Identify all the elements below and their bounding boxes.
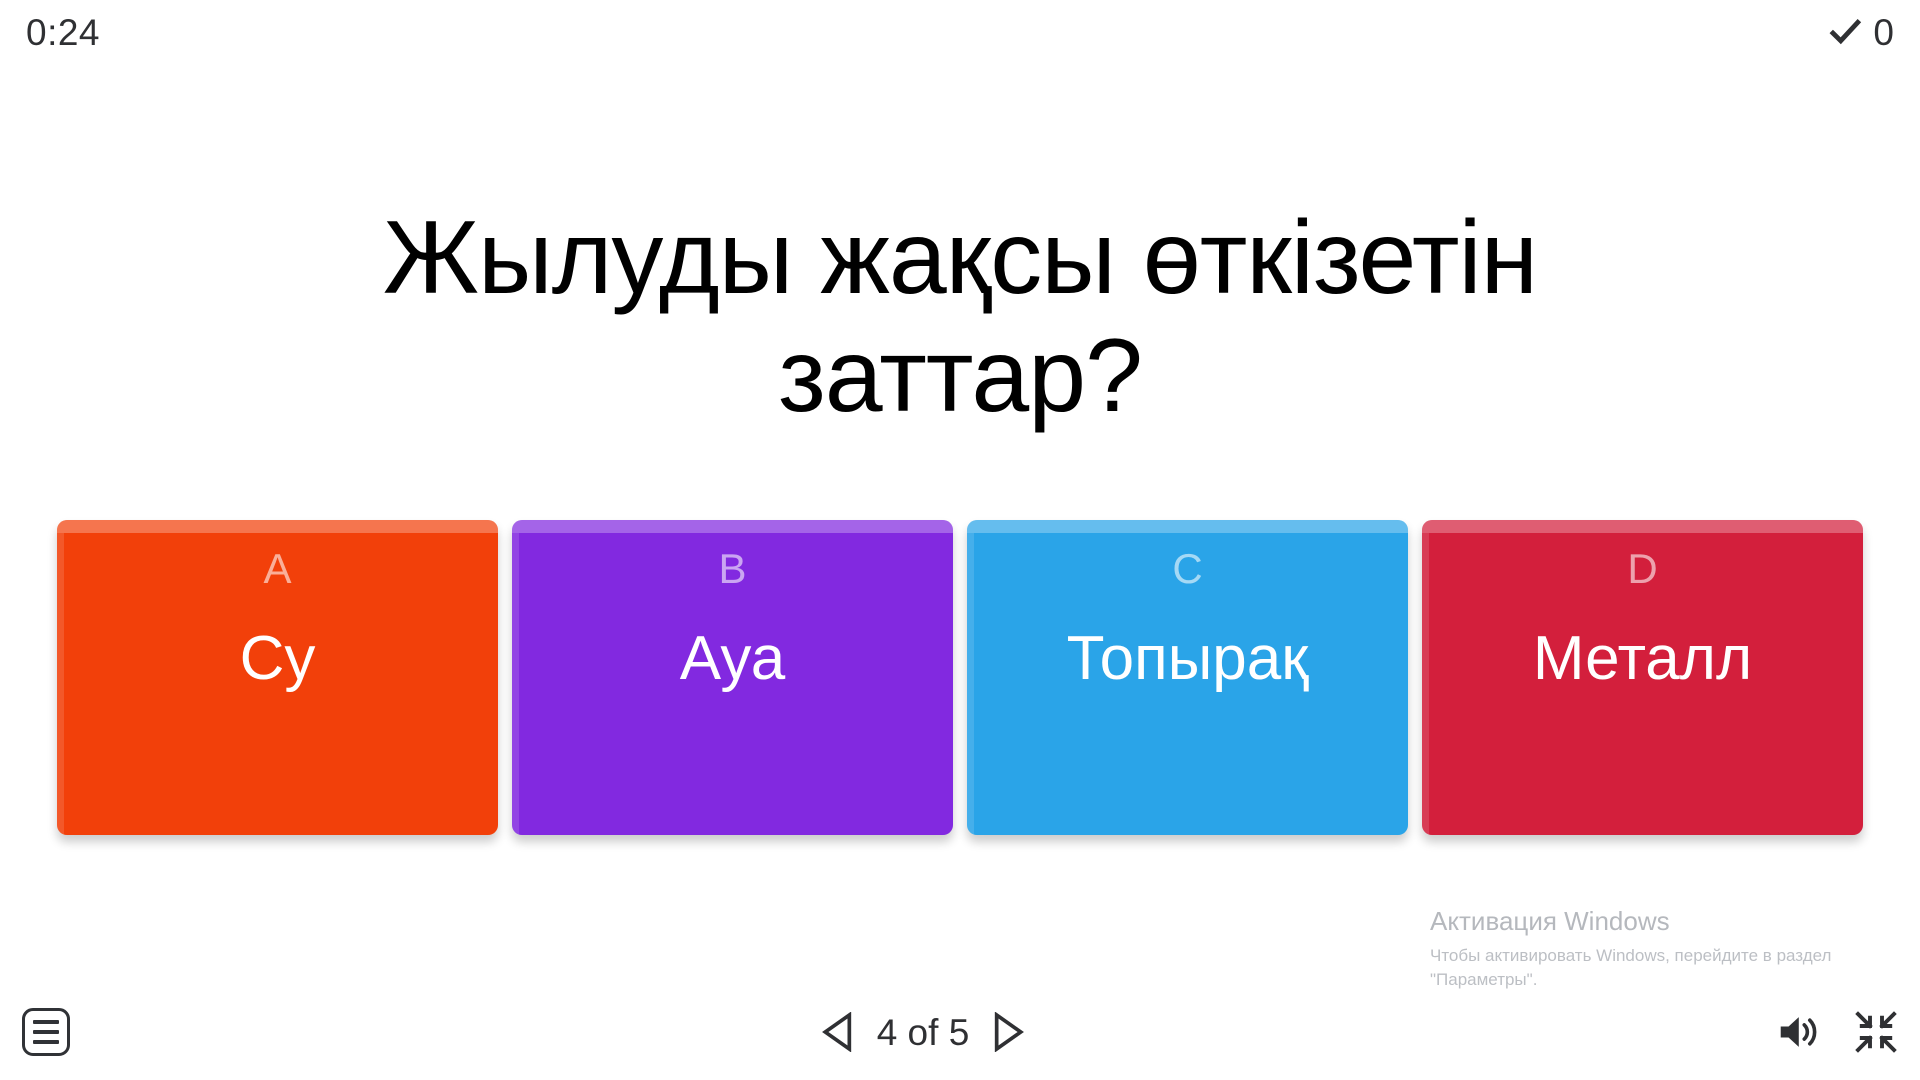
- score-indicator: 0: [1828, 14, 1894, 51]
- slide-pager: 4 of 5: [821, 1012, 1026, 1052]
- windows-activation-watermark: Активация Windows Чтобы активировать Win…: [1430, 905, 1870, 993]
- next-arrow-icon[interactable]: [991, 1012, 1025, 1052]
- answer-options: A Су B Ауа C Топырақ D Металл: [0, 520, 1920, 835]
- watermark-title: Активация Windows: [1430, 905, 1870, 938]
- quiz-slide: 0:24 0 Жылуды жақсы өткізетін заттар? A …: [0, 0, 1920, 1080]
- menu-line: [33, 1030, 59, 1034]
- answer-label-d: Металл: [1517, 624, 1768, 693]
- score-value: 0: [1873, 14, 1894, 51]
- answer-label-c: Топырақ: [1051, 624, 1325, 693]
- answer-tile-a[interactable]: A Су: [57, 520, 498, 835]
- top-bar: 0:24 0: [0, 0, 1920, 64]
- answer-tile-d[interactable]: D Металл: [1422, 520, 1863, 835]
- check-icon: [1828, 15, 1862, 49]
- bottom-bar: 4 of 5: [0, 984, 1920, 1080]
- answer-letter-b: B: [718, 548, 746, 590]
- question-area: Жылуды жақсы өткізетін заттар?: [0, 200, 1920, 435]
- menu-line: [33, 1040, 59, 1044]
- answer-letter-c: C: [1172, 548, 1202, 590]
- hamburger-menu-icon[interactable]: [22, 1008, 70, 1056]
- countdown-timer: 0:24: [26, 14, 100, 51]
- question-text: Жылуды жақсы өткізетін заттар?: [370, 200, 1550, 435]
- volume-icon[interactable]: [1776, 1011, 1820, 1053]
- answer-letter-d: D: [1627, 548, 1657, 590]
- answer-tile-c[interactable]: C Топырақ: [967, 520, 1408, 835]
- bottom-right-controls: [1776, 1011, 1898, 1053]
- menu-line: [33, 1020, 59, 1024]
- answer-label-b: Ауа: [664, 624, 801, 693]
- exit-fullscreen-icon[interactable]: [1854, 1011, 1898, 1053]
- answer-letter-a: A: [263, 548, 291, 590]
- answer-tile-b[interactable]: B Ауа: [512, 520, 953, 835]
- previous-arrow-icon[interactable]: [821, 1012, 855, 1052]
- page-indicator: 4 of 5: [877, 1014, 970, 1051]
- answer-label-a: Су: [224, 624, 332, 693]
